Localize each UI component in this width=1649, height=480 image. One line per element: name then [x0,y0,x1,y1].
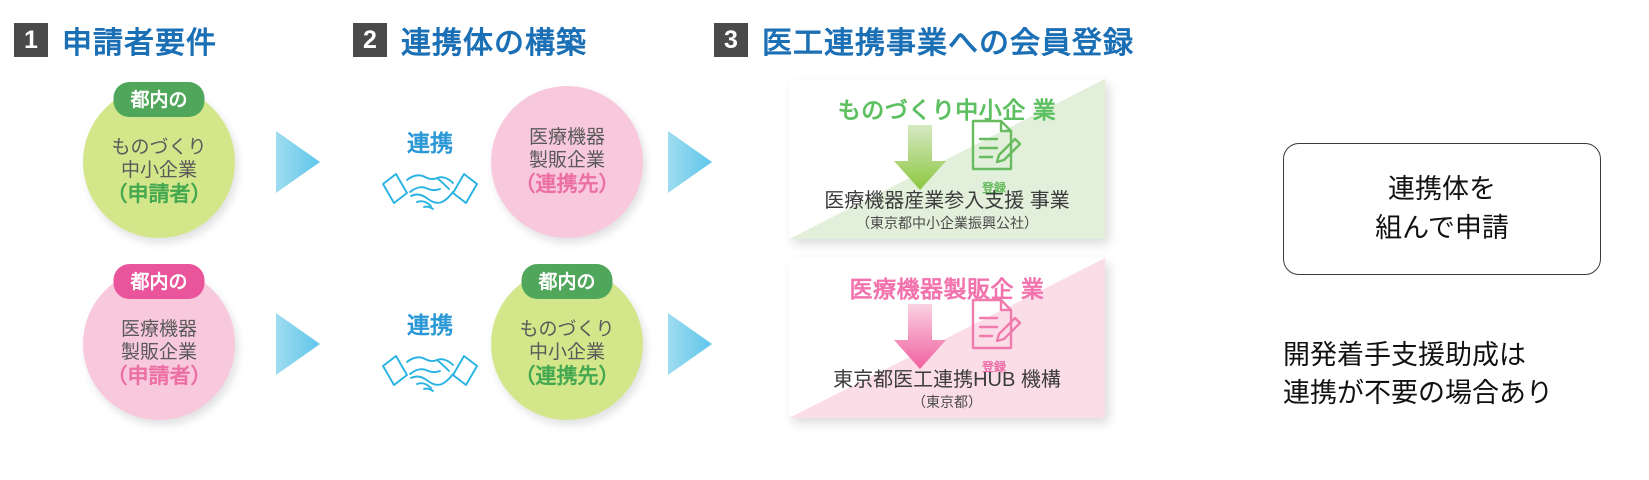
note-line-1: 開発着手支援助成は [1283,336,1613,374]
applicant-circle-distributor: 医療機器 製販企業 （申請者） 都内の [83,268,235,420]
handshake-icon [380,162,480,214]
badge-tonai: 都内の [113,264,204,299]
circle-line-2: 中小企業 [121,159,197,182]
circle-body: 医療機器 製販企業 （連携先） [491,86,643,238]
section-heading-2: 2 連携体の構築 [353,18,587,62]
flow-arrow-3 [668,131,712,198]
card-content: ものづくり中小企 業 登録 医療機器産業参 [789,79,1105,239]
card-program-name: 医療機器産業参入支援 事業 [789,184,1105,213]
circle-role: （連携先） [515,364,620,390]
badge-tonai: 都内の [113,82,204,117]
section-number-3: 3 [714,23,748,57]
callout-line-2: 組んで申請 [1375,209,1509,248]
down-arrow-icon [893,304,947,370]
section-number-2: 2 [353,23,387,57]
section-number-1: 1 [14,23,48,57]
badge-tonai: 都内の [521,264,612,299]
card-organization: （東京都中小企業振興公社） [789,213,1105,233]
register-document-icon [963,115,1025,177]
note-line-2: 連携が不要の場合あり [1283,374,1613,412]
applicant-circle-manufacturer: ものづくり 中小企業 （申請者） 都内の [83,86,235,238]
circle-line-2: 中小企業 [529,341,605,364]
registration-card-distributor: 医療機器製販企 業 登録 東京都医工連携HUB 機構 （東 [789,258,1105,418]
partner-circle-distributor: 医療機器 製販企業 （連携先） [491,86,643,238]
partner-circle-manufacturer: ものづくり 中小企業 （連携先） 都内の [491,268,643,420]
renkei-group-1: 連携 [372,124,488,214]
section-heading-1: 1 申請者要件 [14,18,217,62]
flow-arrow-1 [276,131,320,198]
card-organization: （東京都） [789,392,1105,412]
callout-line-1: 連携体を [1388,170,1496,209]
registration-card-manufacturer: ものづくり中小企 業 登録 医療機器産業参 [789,79,1105,239]
circle-line-2: 製販企業 [529,149,605,172]
section-title-1: 申請者要件 [62,18,217,62]
card-entity-label: 医療機器製販企 業 [789,270,1105,304]
section-heading-3: 3 医工連携事業への会員登録 [714,18,1134,62]
circle-line-1: ものづくり [519,318,614,341]
callout-box-apply-as-consortium: 連携体を 組んで申請 [1283,143,1601,275]
diagram-canvas: 1 申請者要件 2 連携体の構築 3 医工連携事業への会員登録 ものづくり 中小… [0,0,1649,480]
section-title-3: 医工連携事業への会員登録 [762,18,1134,62]
flow-arrow-4 [668,313,712,380]
renkei-label: 連携 [372,306,488,340]
register-document-icon [963,294,1025,356]
down-arrow-icon [893,125,947,191]
circle-role: （申請者） [107,364,212,390]
flow-arrow-2 [276,313,320,380]
card-content: 医療機器製販企 業 登録 東京都医工連携HUB 機構 （東 [789,258,1105,418]
note-development-subsidy: 開発着手支援助成は 連携が不要の場合あり [1283,336,1613,413]
section-title-2: 連携体の構築 [401,18,587,62]
circle-role: （連携先） [515,172,620,198]
renkei-label: 連携 [372,124,488,158]
renkei-group-2: 連携 [372,306,488,396]
circle-line-1: 医療機器 [121,318,197,341]
card-program-name: 東京都医工連携HUB 機構 [789,363,1105,392]
circle-line-1: ものづくり [111,136,206,159]
circle-role: （申請者） [107,182,212,208]
handshake-icon [380,344,480,396]
circle-line-1: 医療機器 [529,126,605,149]
circle-line-2: 製販企業 [121,341,197,364]
card-entity-label: ものづくり中小企 業 [789,91,1105,125]
